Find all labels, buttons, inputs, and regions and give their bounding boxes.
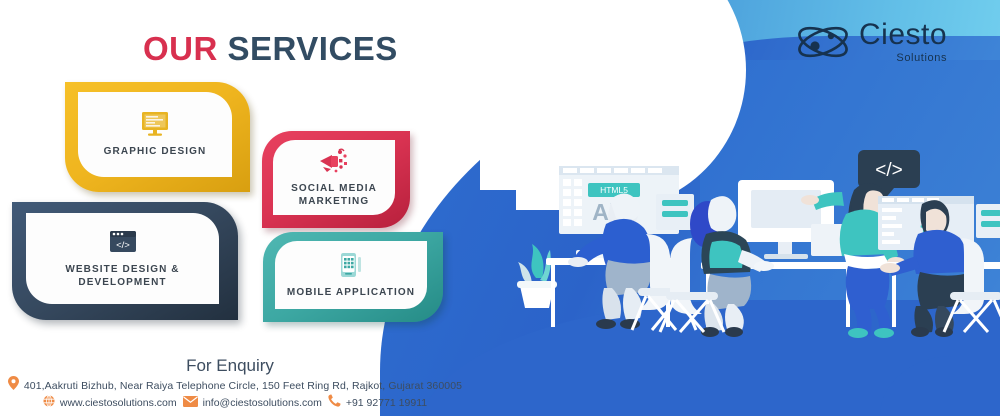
smartphone-icon — [334, 251, 368, 279]
service-label: GRAPHIC DESIGN — [104, 145, 207, 159]
card-body: </> WEBSITE DESIGN & DEVELOPMENT — [26, 213, 219, 304]
browser-code-icon: </> — [106, 228, 140, 256]
email-link[interactable]: info@ciestosolutions.com — [183, 394, 322, 412]
megaphone-icon — [317, 147, 351, 175]
location-pin-icon — [8, 376, 19, 395]
monitor-design-icon — [138, 110, 172, 138]
service-card-mobile-application[interactable]: MOBILE APPLICATION — [263, 232, 443, 322]
service-card-website-design-development[interactable]: </> WEBSITE DESIGN & DEVELOPMENT — [12, 202, 238, 320]
service-card-social-media-marketing[interactable]: SOCIAL MEDIA MARKETING — [262, 131, 410, 228]
svg-text:</>: </> — [875, 160, 902, 181]
service-label: SOCIAL MEDIA MARKETING — [273, 182, 395, 209]
contact-row: www.ciestosolutions.com info@ciestosolut… — [0, 394, 470, 412]
email-text: info@ciestosolutions.com — [203, 397, 322, 409]
card-body: GRAPHIC DESIGN — [78, 92, 232, 177]
logo-name: Ciesto — [859, 20, 947, 50]
website-link[interactable]: www.ciestosolutions.com — [43, 394, 177, 412]
service-card-graphic-design[interactable]: GRAPHIC DESIGN — [65, 82, 250, 192]
address-row: 401,Aakruti Bizhub, Near Raiya Telephone… — [0, 376, 470, 395]
envelope-icon — [183, 394, 198, 412]
page-title-highlight: OUR — [143, 30, 218, 67]
phone-icon — [328, 394, 341, 412]
service-label: MOBILE APPLICATION — [287, 286, 415, 300]
page-title-rest: SERVICES — [218, 30, 398, 67]
page-title: OUR SERVICES — [143, 30, 398, 68]
svg-text:</>: </> — [116, 240, 130, 251]
enquiry-heading: For Enquiry — [0, 356, 460, 376]
card-body: SOCIAL MEDIA MARKETING — [273, 140, 395, 215]
address-text: 401,Aakruti Bizhub, Near Raiya Telephone… — [24, 380, 462, 392]
office-team-illustration: HTML5 Abc — [506, 138, 1000, 338]
phone-text: +91 92771 19911 — [346, 397, 427, 409]
company-logo[interactable]: Ciesto Solutions — [795, 12, 990, 72]
atom-orbit-icon — [795, 18, 851, 66]
card-body: MOBILE APPLICATION — [275, 241, 427, 309]
globe-icon — [43, 394, 55, 412]
logo-subtitle: Solutions — [859, 53, 947, 64]
workstation-right: {=} — [878, 196, 1000, 337]
banner-canvas: HTML5 Abc — [0, 0, 1000, 416]
phone-link[interactable]: +91 92771 19911 — [328, 394, 427, 412]
website-text: www.ciestosolutions.com — [60, 397, 177, 409]
service-label: WEBSITE DESIGN & DEVELOPMENT — [26, 263, 219, 290]
